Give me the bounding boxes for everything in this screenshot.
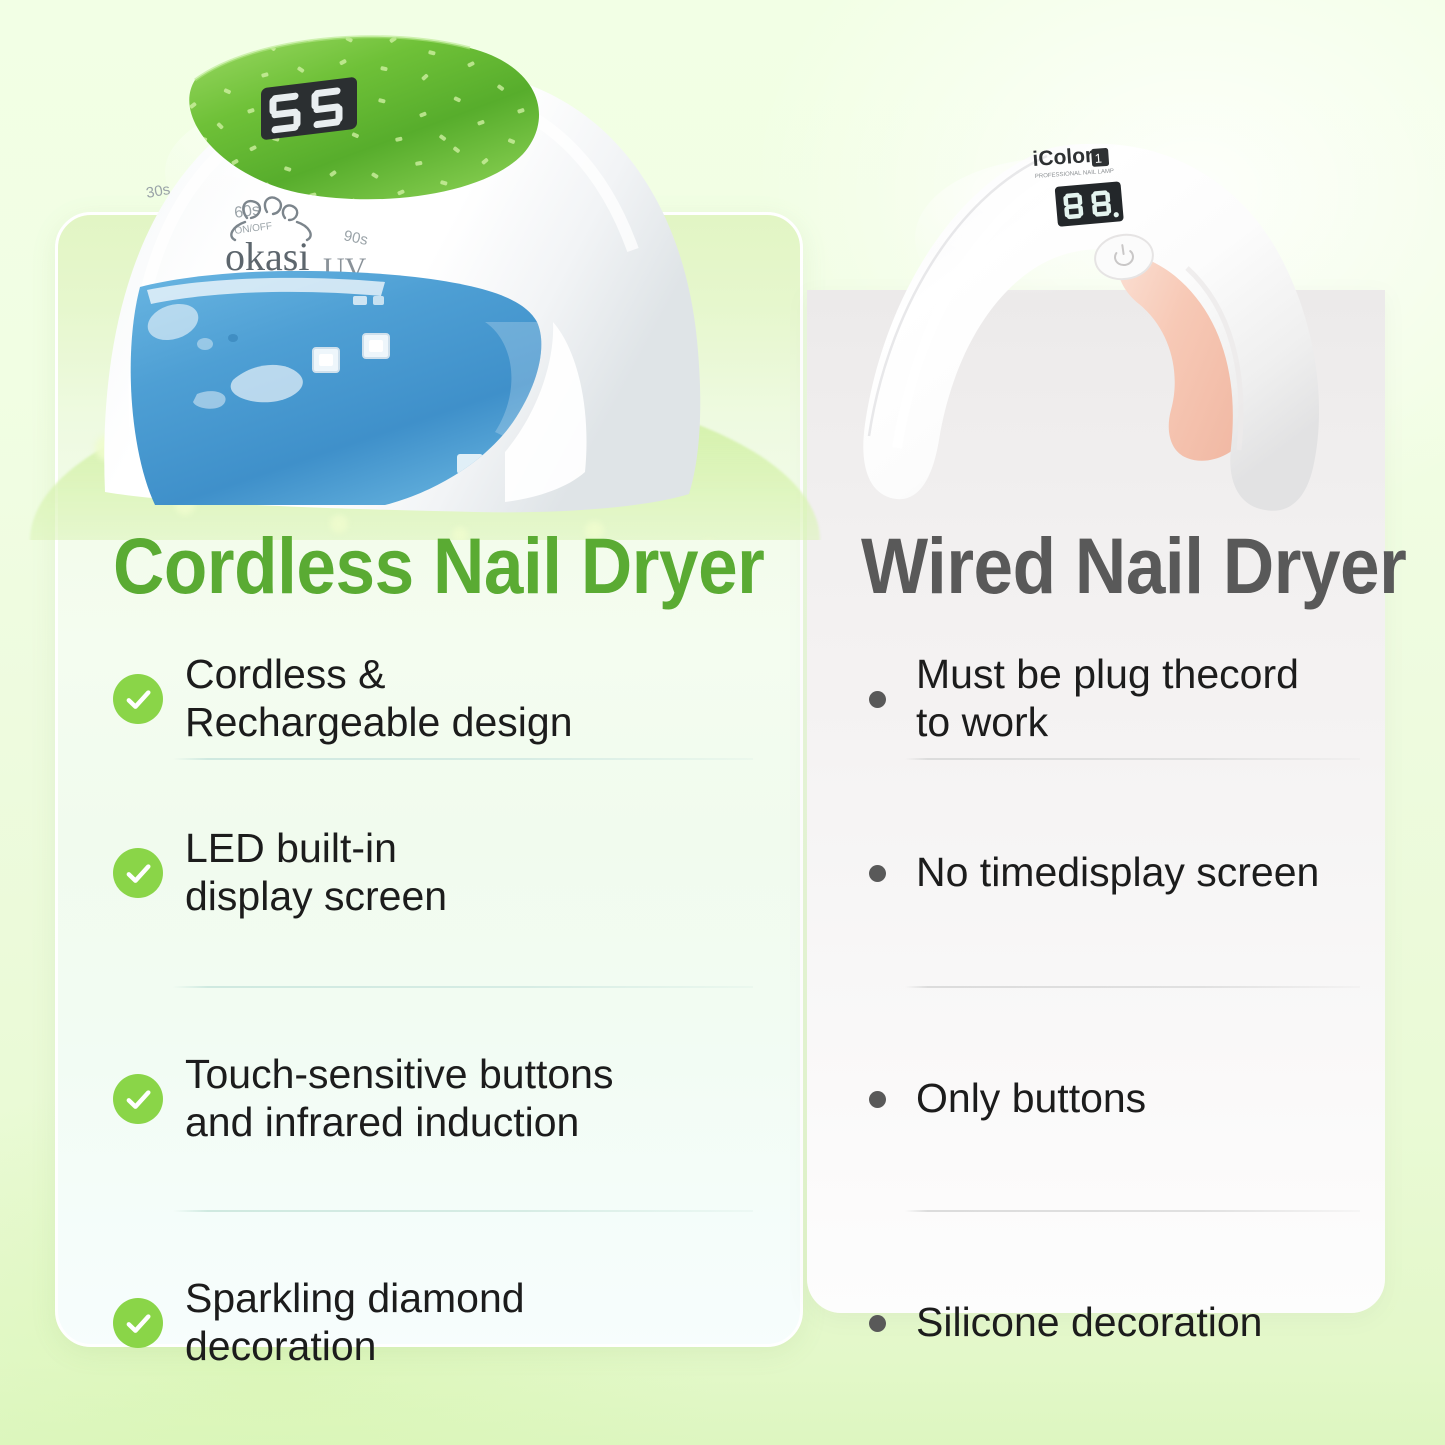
list-item: Touch-sensitive buttonsand infrared indu… — [113, 1040, 753, 1158]
infographic-page: 30s 60s ON/OFF 90s okasi UV — [0, 0, 1445, 1445]
bullet-dot-icon — [869, 691, 886, 708]
feature-text: LED built-indisplay screen — [185, 825, 447, 921]
page-title-wired: Wired Nail Dryer — [861, 520, 1406, 612]
list-separator — [905, 1210, 1360, 1212]
list-separator — [173, 1210, 753, 1212]
list-separator — [905, 986, 1360, 988]
brand-logo-icolor: iColor 1 PROFESSIONAL NAIL LAMP — [1032, 144, 1114, 180]
feature-text: Sparkling diamonddecoration — [185, 1275, 525, 1371]
feature-text: No timedisplay screen — [916, 849, 1319, 897]
feature-text: Must be plug thecordto work — [916, 651, 1299, 747]
list-item: Sparkling diamonddecoration — [113, 1264, 753, 1382]
wired-lamp-image: iColor 1 PROFESSIONAL NAIL LAMP — [835, 118, 1405, 518]
wired-feature-list: Must be plug thecordto work No timedispl… — [855, 640, 1355, 1382]
check-circle-icon — [113, 848, 163, 898]
bullet-dot-icon — [869, 1315, 886, 1332]
brand-text-icolor: iColor — [1032, 144, 1094, 171]
feature-text: Cordless &Rechargeable design — [185, 651, 573, 747]
list-item: Only buttons — [855, 1040, 1355, 1158]
cordless-feature-list: Cordless &Rechargeable design LED built-… — [113, 640, 753, 1382]
list-separator — [905, 758, 1360, 760]
cordless-lamp-image: 30s 60s ON/OFF 90s okasi UV — [85, 22, 775, 532]
digital-display-screen — [1055, 181, 1124, 227]
list-separator — [173, 986, 753, 988]
bullet-dot-icon — [869, 1091, 886, 1108]
list-item: Silicone decoration — [855, 1264, 1355, 1382]
bullet-dot-icon — [869, 865, 886, 882]
svg-text:1: 1 — [1094, 151, 1102, 166]
list-item: Must be plug thecordto work — [855, 640, 1355, 758]
page-title-cordless: Cordless Nail Dryer — [113, 520, 764, 612]
list-item: LED built-indisplay screen — [113, 814, 753, 932]
list-item: No timedisplay screen — [855, 814, 1355, 932]
check-circle-icon — [113, 1298, 163, 1348]
list-separator — [173, 758, 753, 760]
check-circle-icon — [113, 674, 163, 724]
feature-text: Silicone decoration — [916, 1299, 1262, 1347]
feature-text: Touch-sensitive buttonsand infrared indu… — [185, 1051, 613, 1147]
list-item: Cordless &Rechargeable design — [113, 640, 753, 758]
feature-text: Only buttons — [916, 1075, 1146, 1123]
check-circle-icon — [113, 1074, 163, 1124]
